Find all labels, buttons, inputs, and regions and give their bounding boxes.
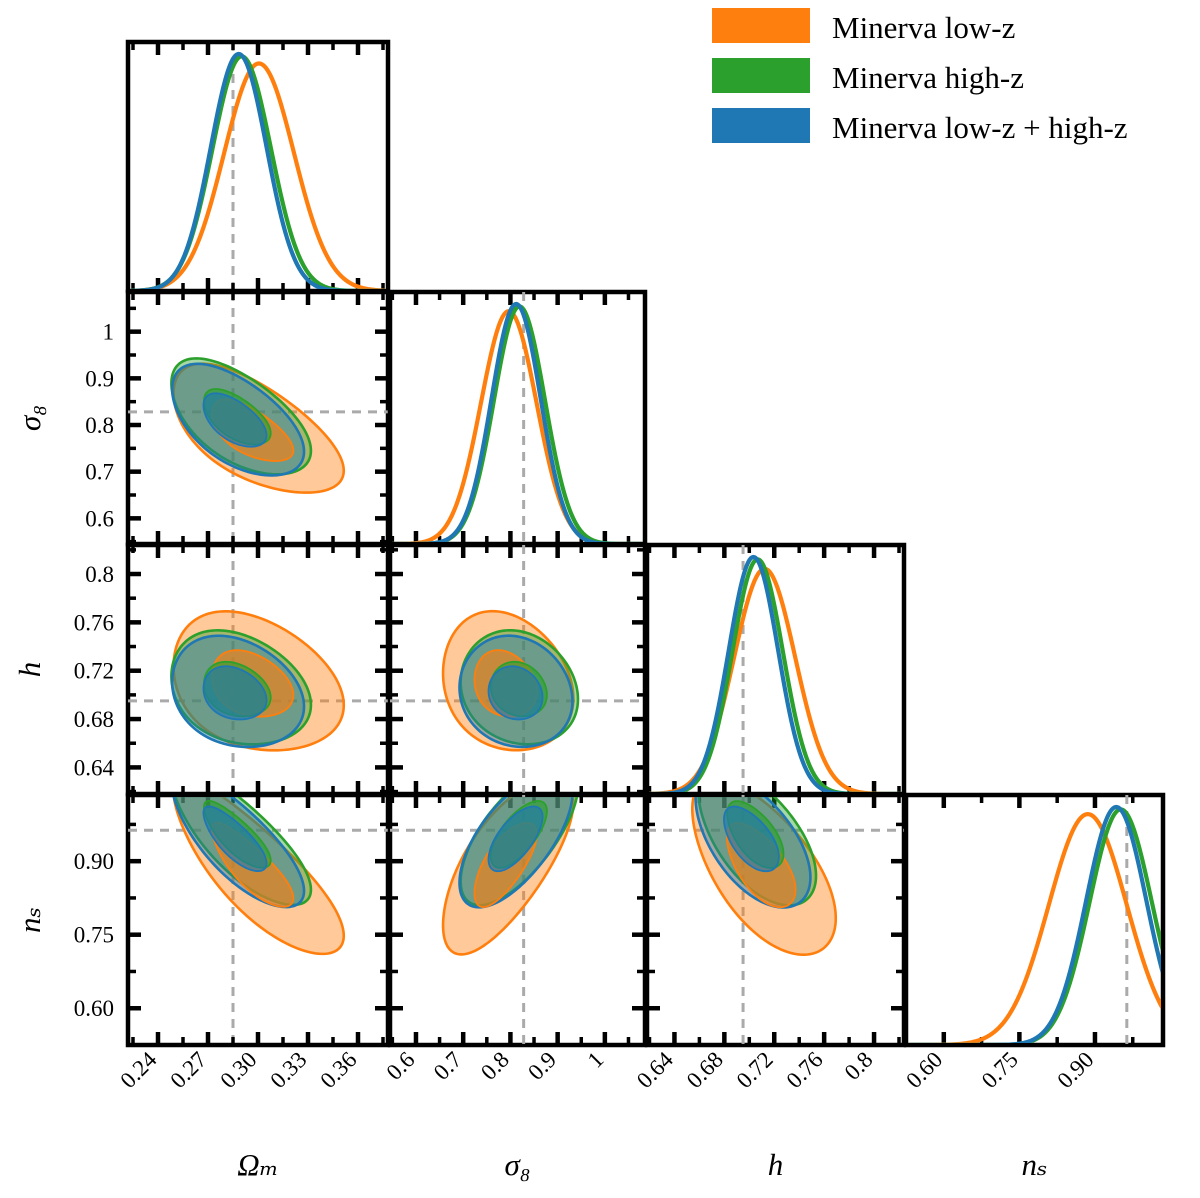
x-axis-label: nₛ (1022, 1147, 1048, 1182)
y-tick-label: 0.90 (74, 849, 114, 874)
legend-swatch-combined (712, 108, 810, 143)
x-tick-label: 0.90 (1052, 1047, 1098, 1093)
panel-ns-vs-sigma8 (390, 765, 645, 1045)
legend: Minerva low-zMinerva high-zMinerva low-z… (712, 8, 1128, 145)
y-tick-label: 0.64 (74, 755, 115, 780)
x-tick-label: 0.7 (429, 1047, 467, 1085)
x-tick-label: 0.8 (840, 1047, 878, 1085)
x-tick-label: 0.8 (476, 1047, 514, 1085)
x-tick-label: 0.9 (523, 1047, 561, 1085)
panel-h-vs-sigma8 (390, 545, 645, 794)
corner-plot-figure: 0.240.270.300.330.36Ωₘ0.60.70.80.91σ₈0.6… (0, 0, 1200, 1198)
x-tick-label: 0.24 (115, 1047, 161, 1093)
x-tick-label: 0.27 (165, 1047, 211, 1093)
x-tick-label: 0.30 (215, 1047, 261, 1093)
x-tick-label: 0.76 (782, 1047, 828, 1093)
legend-swatch-high-z (712, 58, 810, 93)
x-axis-label: Ωₘ (237, 1147, 278, 1182)
panel-ns-vs-h (647, 765, 904, 1045)
panel-frame (390, 292, 645, 544)
x-tick-label: 1 (583, 1047, 609, 1073)
legend-swatch-low-z (712, 8, 810, 43)
panel-ns-vs-Om (128, 765, 388, 1045)
x-axis-label: h (768, 1147, 784, 1182)
y-tick-label: 0.60 (74, 996, 114, 1021)
y-tick-label: 0.75 (74, 923, 114, 948)
panel-sigma8-vs-Om (128, 292, 388, 544)
x-axis-label: σ₈ (504, 1147, 530, 1182)
y-tick-label: 0.6 (85, 506, 114, 531)
panel-h-vs-Om (128, 545, 388, 794)
panel-sigma8-vs-sigma8 (390, 292, 645, 544)
y-tick-label: 0.8 (85, 562, 114, 587)
y-tick-label: 0.76 (74, 610, 114, 635)
panel-ns-vs-ns (906, 795, 1163, 1045)
corner-plot-canvas: 0.240.270.300.330.36Ωₘ0.60.70.80.91σ₈0.6… (0, 0, 1200, 1198)
y-tick-label: 0.9 (85, 366, 114, 391)
panel-frame (906, 795, 1163, 1045)
panel-Om-vs-Om (128, 42, 388, 291)
x-tick-label: 0.6 (382, 1047, 420, 1085)
x-tick-label: 0.75 (977, 1047, 1023, 1093)
y-tick-label: 1 (103, 320, 115, 345)
legend-label: Minerva low-z + high-z (832, 110, 1128, 145)
y-axis-label: nₛ (12, 907, 47, 933)
y-tick-label: 0.72 (74, 659, 114, 684)
x-tick-label: 0.72 (732, 1047, 778, 1093)
panel-grid: 0.240.270.300.330.36Ωₘ0.60.70.80.91σ₈0.6… (12, 42, 1163, 1182)
y-axis-label: σ₈ (12, 405, 47, 431)
y-tick-label: 0.7 (85, 460, 114, 485)
legend-label: Minerva high-z (832, 60, 1024, 95)
x-tick-label: 0.64 (632, 1047, 678, 1093)
y-tick-label: 0.68 (74, 707, 114, 732)
x-tick-label: 0.33 (265, 1047, 311, 1093)
y-axis-label: h (12, 662, 47, 678)
panel-frame (128, 42, 388, 291)
legend-label: Minerva low-z (832, 10, 1015, 45)
panel-h-vs-h (647, 545, 904, 794)
x-tick-label: 0.60 (901, 1047, 947, 1093)
x-tick-label: 0.68 (682, 1047, 728, 1093)
y-tick-label: 0.8 (85, 413, 114, 438)
x-tick-label: 0.36 (315, 1047, 361, 1093)
